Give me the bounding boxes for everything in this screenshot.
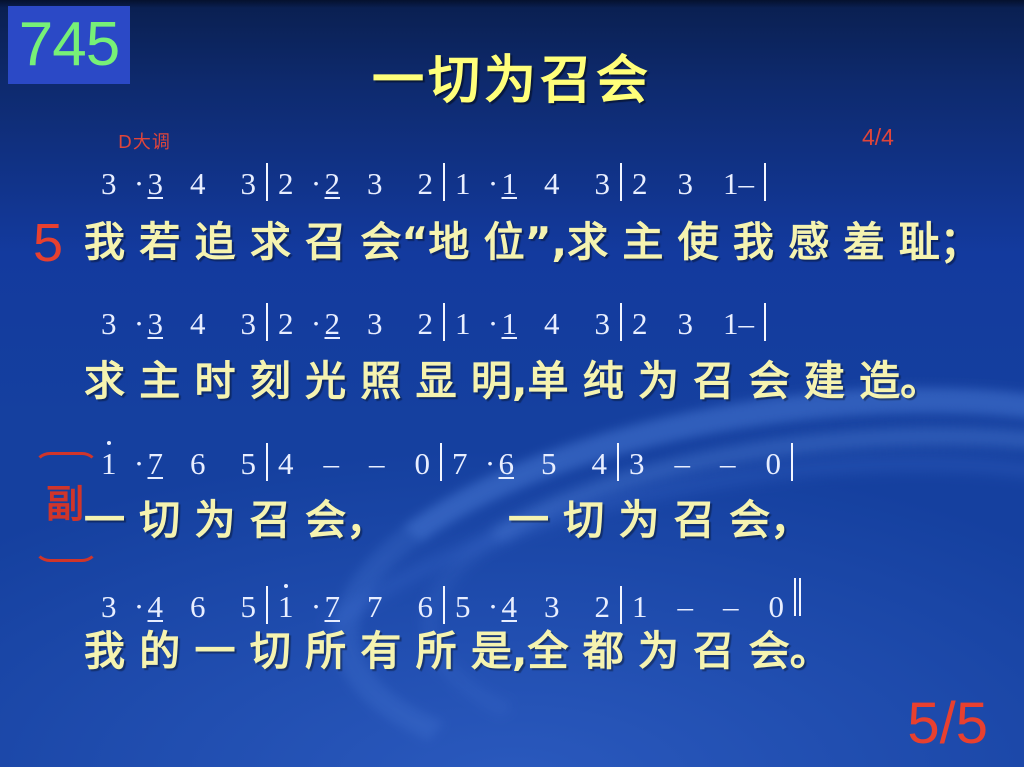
notation-line-4: 3 ·4 6 5 1 ·7 7 6 5 ·4 3 2 1 – – 0 <box>100 578 804 625</box>
lyric-line-3a: 一 切 为 召 会， <box>84 497 387 543</box>
chorus-arc-top-icon <box>34 452 98 481</box>
notation-line-1: 3 ·3 4 3 2 ·2 3 2 1 ·1 4 3 2 3 1– <box>100 163 766 202</box>
notation-line-2: 3 ·3 4 3 2 ·2 3 2 1 ·1 4 3 2 3 1– <box>100 303 766 342</box>
final-barline <box>794 578 804 624</box>
lyric-line-4: 我 的 一 切 所 有 所 是,全 都 为 召 会。 <box>84 628 831 674</box>
lyric-line-3b: 一 切 为 召 会， <box>508 497 811 543</box>
notation-line-3: 1 ·7 6 5 4 – – 0 7 ·6 5 4 3 – – 0 <box>100 443 793 482</box>
top-shade <box>0 0 1024 8</box>
key-signature: D大调 <box>118 128 171 154</box>
verse-number: 5 <box>33 216 63 270</box>
time-signature: 4/4 <box>862 124 894 151</box>
page-title: 一切为召会 <box>0 52 1024 110</box>
chorus-marker-label: 副 <box>46 485 84 523</box>
slide-canvas: 745 一切为召会 D大调 4/4 3 ·3 4 3 2 ·2 3 2 1 ·1… <box>0 0 1024 767</box>
page-counter: 5/5 <box>907 695 988 753</box>
lyric-line-2: 求 主 时 刻 光 照 显 明,单 纯 为 召 会 建 造。 <box>84 358 941 404</box>
lyric-line-1: 我 若 追 求 召 会“地 位”,求 主 使 我 感 羞 耻； <box>84 219 981 265</box>
